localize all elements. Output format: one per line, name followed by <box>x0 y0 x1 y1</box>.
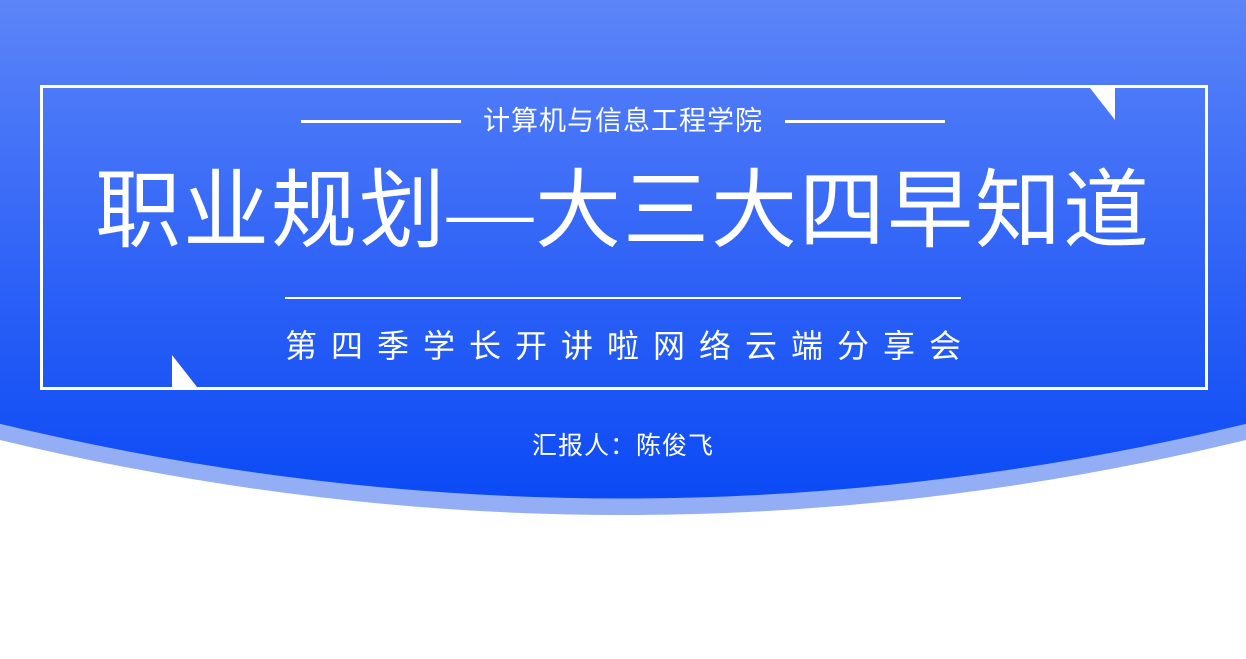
slide-subtitle: 第四季学长开讲啦网络云端分享会 <box>0 326 1246 366</box>
eyebrow-rule-right <box>785 120 945 123</box>
eyebrow-rule-left <box>301 120 461 123</box>
presenter-name: 汇报人：陈俊飞 <box>0 432 1246 462</box>
page-title: 职业规划—大三大四早知道 <box>0 163 1246 259</box>
slide-content: 计算机与信息工程学院 职业规划—大三大四早知道 第四季学长开讲啦网络云端分享会 … <box>0 0 1246 659</box>
organization-name: 计算机与信息工程学院 <box>483 108 763 135</box>
organization-line: 计算机与信息工程学院 <box>0 108 1246 135</box>
title-divider <box>285 297 961 299</box>
title-slide: 计算机与信息工程学院 职业规划—大三大四早知道 第四季学长开讲啦网络云端分享会 … <box>0 0 1246 659</box>
